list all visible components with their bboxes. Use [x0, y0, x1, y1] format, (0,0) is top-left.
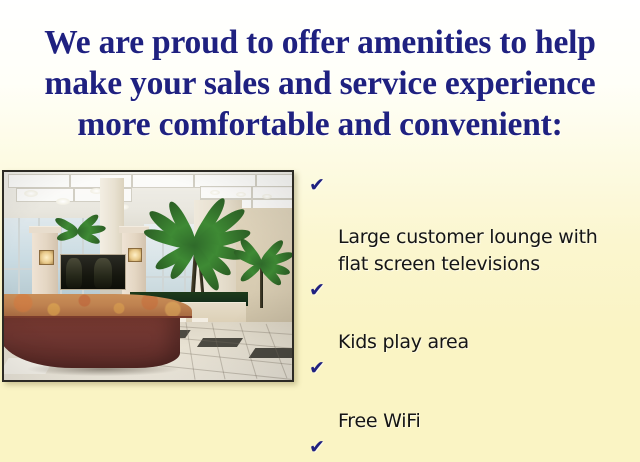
amenities-list: ✔ Large customer lounge with flat screen… [306, 172, 640, 462]
list-item: ✔ Large customer lounge with flat screen… [306, 172, 640, 277]
page-title: We are proud to offer amenities to help … [0, 22, 640, 145]
slide-canvas: We are proud to offer amenities to help … [0, 0, 640, 462]
photo-vignette [4, 172, 292, 380]
lobby-photo [2, 170, 294, 382]
list-item: ✔ Kids play area [306, 277, 640, 356]
list-item-label: Kids play area [338, 331, 469, 353]
page-title-line-3: more comfortable and convenient: [0, 104, 640, 145]
list-item: ✔ Workstation areas [306, 434, 640, 462]
check-icon: ✔ [309, 355, 325, 381]
check-icon: ✔ [309, 172, 325, 198]
check-icon: ✔ [309, 434, 325, 460]
list-item-label: Large customer lounge with flat screen t… [338, 226, 598, 274]
page-title-line-1: We are proud to offer amenities to help [0, 22, 640, 63]
lobby-photo-image [4, 172, 292, 380]
list-item-label: Free WiFi [338, 410, 421, 432]
check-icon: ✔ [309, 277, 325, 303]
list-item: ✔ Free WiFi [306, 355, 640, 434]
page-title-line-2: make your sales and service experience [0, 63, 640, 104]
